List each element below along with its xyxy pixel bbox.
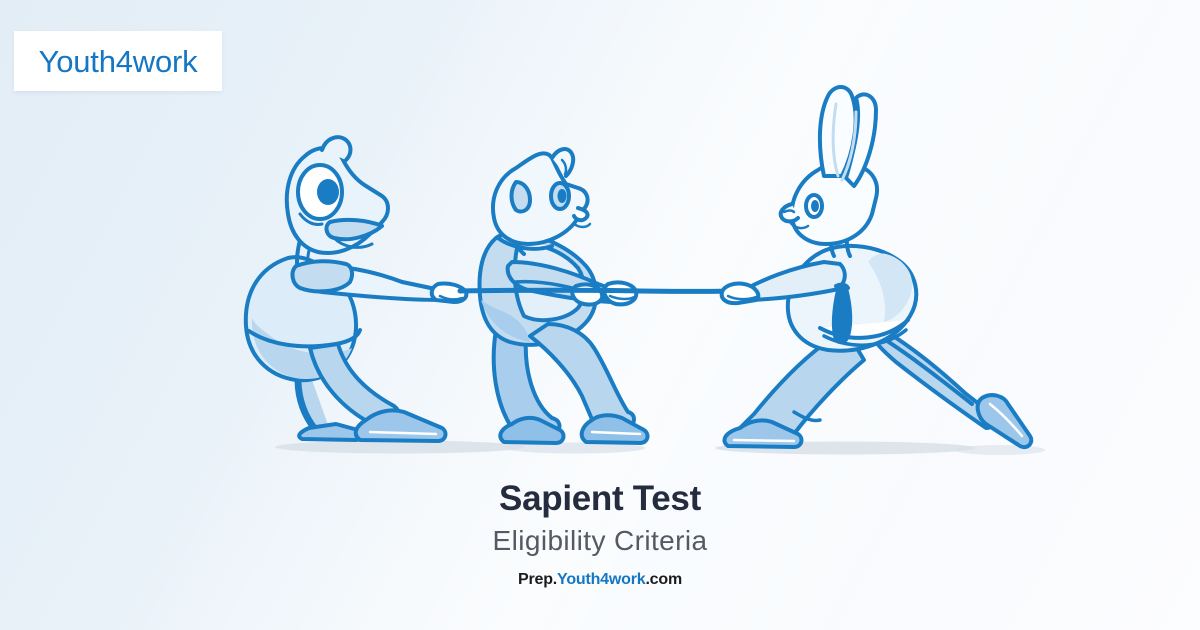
cat-character: [480, 149, 648, 443]
brand-logo[interactable]: Youth4work: [14, 31, 222, 91]
site-url-prefix: Prep.: [518, 571, 557, 588]
rabbit-character: [722, 87, 1032, 447]
poster-canvas: Youth4work: [0, 0, 1200, 630]
site-url[interactable]: Prep.Youth4work.com: [0, 572, 1200, 588]
page-title: Sapient Test: [0, 478, 1200, 519]
page-subtitle: Eligibility Criteria: [0, 524, 1200, 558]
caption-block: Sapient Test Eligibility Criteria Prep.Y…: [0, 478, 1200, 588]
ground-shadows: [275, 441, 1045, 456]
site-url-brand: Youth4work: [557, 571, 645, 588]
bird-character: [246, 137, 467, 441]
site-url-suffix: .com: [645, 571, 682, 588]
brand-logo-text: Youth4work: [39, 46, 198, 77]
tug-rope: [460, 290, 748, 291]
